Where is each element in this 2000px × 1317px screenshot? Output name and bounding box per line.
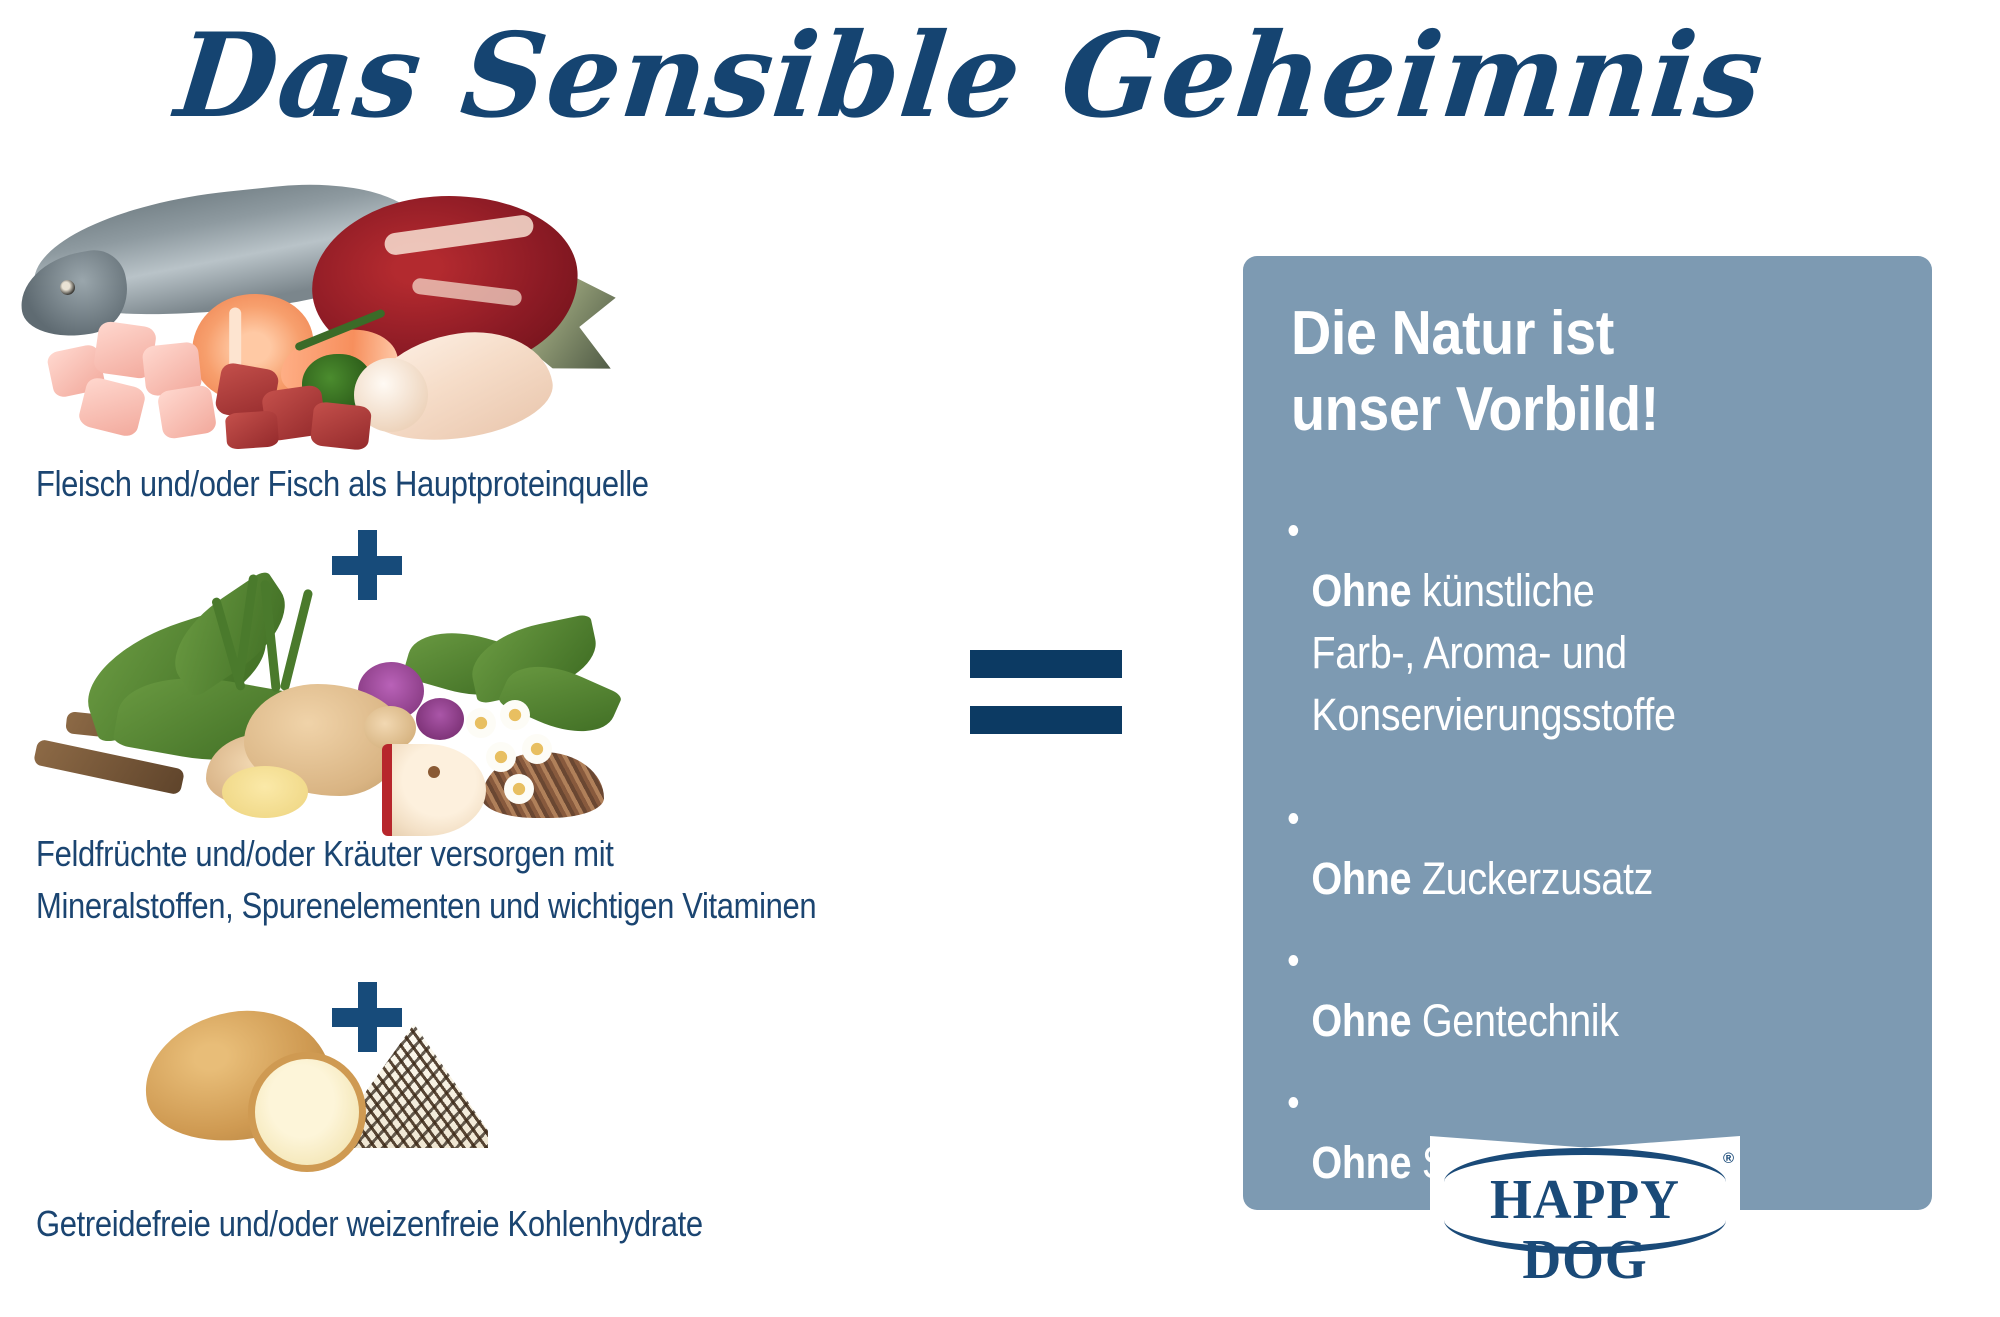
caption-carbohydrates: Getreidefreie und/oder weizenfreie Kohle… <box>36 1198 703 1250</box>
apple-slice-shape <box>382 744 486 836</box>
list-item: Ohne Zuckerzusatz <box>1285 786 1848 910</box>
page-title: Das Sensible Geheimnis <box>0 6 1947 146</box>
thistle-flower-shape-2 <box>416 698 464 740</box>
caption-field-crops-herbs: Feldfrüchte und/oder Kräuter versorgen m… <box>36 828 816 932</box>
chamomile-flower-shape <box>522 734 552 764</box>
bullet-dot-icon <box>1289 525 1299 536</box>
equals-icon <box>970 650 1122 734</box>
claim-keyword: Ohne <box>1311 1137 1411 1188</box>
list-item: Ohne künstliche Farb-, Aroma- und Konser… <box>1285 498 1848 746</box>
claim-keyword: Ohne <box>1311 565 1411 616</box>
claim-text: Zuckerzusatz <box>1411 853 1653 904</box>
infographic-canvas: Das Sensible Geheimnis Fleisch und/oder … <box>0 0 2000 1317</box>
claims-list: Ohne künstliche Farb-, Aroma- und Konser… <box>1285 498 1925 1220</box>
equals-bar-bottom <box>970 706 1122 734</box>
chamomile-flower-shape <box>504 774 534 804</box>
apple-core-shape <box>428 766 440 778</box>
logo-wordmark: HAPPY DOG <box>1436 1170 1734 1290</box>
list-item: Ohne Gentechnik <box>1285 928 1848 1052</box>
beef-dice-shape <box>225 410 279 450</box>
registered-trademark-icon: ® <box>1723 1150 1734 1167</box>
herbs-and-field-crops-photo <box>30 566 670 822</box>
potato-half-shape <box>248 1052 366 1172</box>
caption-protein-source: Fleisch und/oder Fisch als Hauptproteinq… <box>36 458 649 510</box>
equals-bar-top <box>970 650 1122 678</box>
bullet-dot-icon <box>1289 1097 1299 1108</box>
claim-keyword: Ohne <box>1311 853 1411 904</box>
panel-heading: Die Natur ist unser Vorbild! <box>1291 296 1831 448</box>
bullet-dot-icon <box>1289 813 1299 824</box>
potato-slice-shape <box>222 766 308 818</box>
happy-dog-logo: HAPPY DOG ® <box>1430 1136 1740 1264</box>
pork-dice-shape <box>77 375 147 438</box>
claim-text: Gentechnik <box>1411 995 1618 1046</box>
potato-and-rice-photo <box>144 1000 474 1184</box>
pork-dice-shape <box>157 384 218 440</box>
beef-dice-shape <box>310 401 372 451</box>
claim-keyword: Ohne <box>1311 995 1411 1046</box>
chamomile-flower-shape <box>466 708 496 738</box>
bullet-dot-icon <box>1289 955 1299 966</box>
nature-claims-panel: Die Natur ist unser Vorbild! Ohne künstl… <box>1243 256 1932 1210</box>
meat-and-fish-photo <box>12 176 672 448</box>
chamomile-flower-shape <box>500 700 530 730</box>
salmon-eye-shape <box>60 280 75 295</box>
chamomile-flower-shape <box>486 742 516 772</box>
